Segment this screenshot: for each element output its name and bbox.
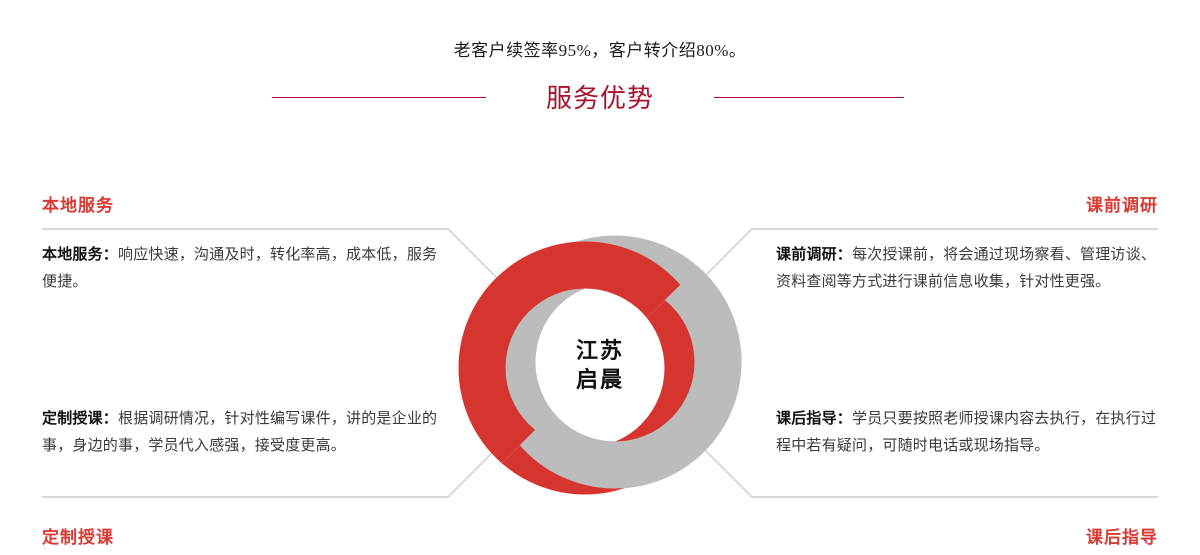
- corner-label-top-left: 本地服务: [42, 191, 114, 216]
- body-block-top-right: 课前调研：每次授课前，将会通过现场察看、管理访谈、资料查阅等方式进行课前信息收集…: [776, 241, 1158, 295]
- body-lead-top-left: 本地服务：: [42, 246, 118, 263]
- headline-text: 老客户续签率95%，客户转介绍80%。: [0, 36, 1200, 61]
- section-title: 服务优势: [0, 80, 1200, 116]
- interlocking-rings-graphic: [455, 220, 745, 510]
- body-block-top-left: 本地服务：响应快速，沟通及时，转化率高，成本低，服务便捷。: [42, 241, 442, 295]
- body-lead-top-right: 课前调研：: [776, 246, 852, 263]
- section-title-row: 服务优势: [0, 80, 1200, 120]
- corner-label-bottom-right: 课后指导: [1086, 523, 1158, 548]
- corner-label-top-right: 课前调研: [1086, 191, 1158, 216]
- body-lead-bottom-left: 定制授课：: [42, 410, 118, 427]
- corner-label-bottom-left: 定制授课: [42, 523, 114, 548]
- body-block-bottom-left: 定制授课：根据调研情况，针对性编写课件，讲的是企业的事，身边的事，学员代入感强，…: [42, 405, 442, 459]
- slide-canvas: 老客户续签率95%，客户转介绍80%。 服务优势 本地服务 课前调研 定制授课 …: [0, 0, 1200, 555]
- body-lead-bottom-right: 课后指导：: [776, 410, 852, 427]
- body-block-bottom-right: 课后指导：学员只要按照老师授课内容去执行，在执行过程中若有疑问，可随时电话或现场…: [776, 405, 1158, 459]
